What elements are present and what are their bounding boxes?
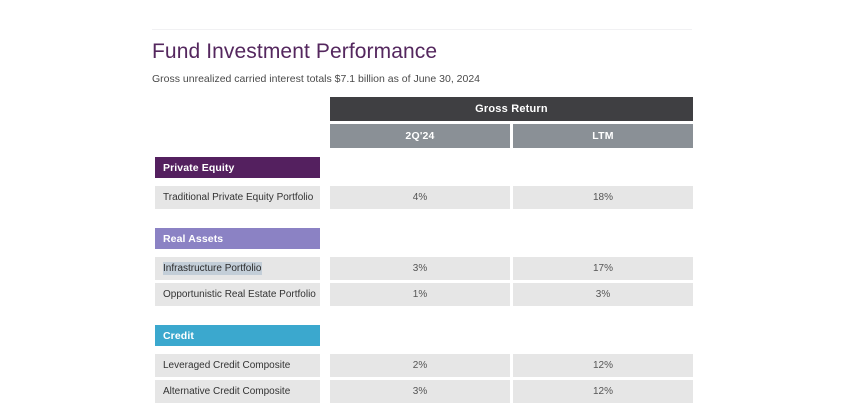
row-label: Alternative Credit Composite	[155, 380, 320, 403]
row-label-cell: Traditional Private Equity Portfolio	[155, 186, 320, 209]
row-label-selected-text: Infrastructure Portfolio	[163, 262, 262, 275]
row-label: Opportunistic Real Estate Portfolio	[155, 283, 320, 306]
row-label-cell: Infrastructure Portfolio	[155, 257, 320, 280]
table-group-header-row: Gross Return	[155, 97, 693, 121]
row-value-q-cell: 3%	[330, 380, 510, 403]
column-group-header-gross-return: Gross Return	[330, 97, 693, 121]
page-title: Fund Investment Performance	[152, 40, 437, 64]
table-row: Opportunistic Real Estate Portfolio 1% 3…	[155, 283, 693, 306]
row-value-ltm: 12%	[513, 380, 693, 403]
table-row: Alternative Credit Composite 3% 12%	[155, 380, 693, 403]
table-row: Traditional Private Equity Portfolio 4% …	[155, 186, 693, 209]
section-header-label: Real Assets	[155, 228, 320, 249]
row-value-ltm: 17%	[513, 257, 693, 280]
column-header-ltm: LTM	[513, 124, 693, 148]
column-header-q-label: 2Q'24	[330, 124, 510, 148]
row-value-q: 2%	[330, 354, 510, 377]
row-value-ltm-cell: 17%	[513, 257, 693, 280]
table-row: Leveraged Credit Composite 2% 12%	[155, 354, 693, 377]
row-value-q: 4%	[330, 186, 510, 209]
section-header-label: Credit	[155, 325, 320, 346]
section-spacer	[155, 212, 693, 228]
row-value-q-cell: 2%	[330, 354, 510, 377]
section-header-private-equity: Private Equity	[155, 157, 693, 178]
row-value-ltm-cell: 3%	[513, 283, 693, 306]
row-value-q: 1%	[330, 283, 510, 306]
section-header-credit: Credit	[155, 325, 693, 346]
row-value-ltm: 3%	[513, 283, 693, 306]
row-value-ltm-cell: 12%	[513, 354, 693, 377]
row-value-q: 3%	[330, 380, 510, 403]
row-label: Leveraged Credit Composite	[155, 354, 320, 377]
row-value-q-cell: 4%	[330, 186, 510, 209]
row-label-cell: Opportunistic Real Estate Portfolio	[155, 283, 320, 306]
row-value-ltm: 12%	[513, 354, 693, 377]
row-value-q-cell: 3%	[330, 257, 510, 280]
row-value-q-cell: 1%	[330, 283, 510, 306]
page-subtitle: Gross unrealized carried interest totals…	[152, 73, 480, 85]
row-label-container: Infrastructure Portfolio	[155, 257, 320, 280]
page-root: Fund Investment Performance Gross unreal…	[0, 0, 845, 420]
performance-table: Gross Return 2Q'24 LTM Private Equity Tr…	[155, 97, 693, 406]
row-label: Traditional Private Equity Portfolio	[155, 186, 320, 209]
row-value-ltm-cell: 18%	[513, 186, 693, 209]
section-header-real-assets: Real Assets	[155, 228, 693, 249]
column-header-q: 2Q'24	[330, 124, 510, 148]
column-header-ltm-label: LTM	[513, 124, 693, 148]
row-label-cell: Leveraged Credit Composite	[155, 354, 320, 377]
row-value-ltm: 18%	[513, 186, 693, 209]
row-label-cell: Alternative Credit Composite	[155, 380, 320, 403]
row-value-q: 3%	[330, 257, 510, 280]
top-divider	[152, 29, 692, 30]
table-row: Infrastructure Portfolio 3% 17%	[155, 257, 693, 280]
section-header-label: Private Equity	[155, 157, 320, 178]
row-value-ltm-cell: 12%	[513, 380, 693, 403]
section-spacer	[155, 309, 693, 325]
table-column-header-row: 2Q'24 LTM	[155, 124, 693, 148]
